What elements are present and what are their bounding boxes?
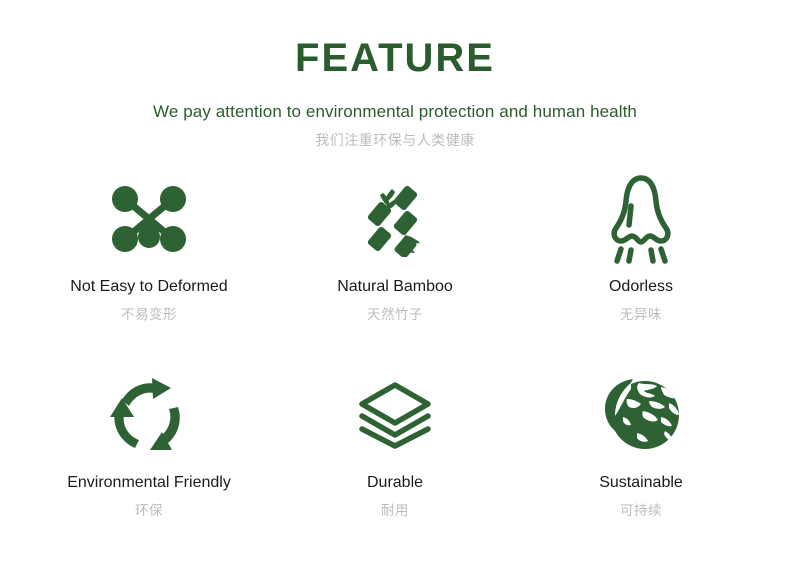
bamboo-icon: [358, 171, 432, 267]
feature-label-chinese: 可持续: [620, 503, 662, 519]
recycle-icon: [108, 367, 190, 463]
feature-label-chinese: 无异味: [620, 307, 662, 323]
subtitle-english: We pay attention to environmental protec…: [0, 102, 790, 122]
feature-item-odorless: Odorless 无异味: [518, 171, 764, 367]
feature-item-environmental-friendly: Environmental Friendly 环保: [26, 367, 272, 563]
feature-label-english: Sustainable: [599, 473, 683, 492]
globe-leaf-icon: [599, 367, 683, 463]
feature-label-chinese: 天然竹子: [367, 307, 423, 323]
feature-label-chinese: 不易变形: [121, 307, 177, 323]
feature-item-natural-bamboo: Natural Bamboo 天然竹子: [272, 171, 518, 367]
layers-icon: [356, 367, 434, 463]
feature-item-not-easy-to-deformed: Not Easy to Deformed 不易变形: [26, 171, 272, 367]
nose-icon: [605, 171, 677, 267]
feature-label-english: Not Easy to Deformed: [70, 277, 227, 296]
feature-label-english: Durable: [367, 473, 423, 492]
feature-label-english: Natural Bamboo: [337, 277, 453, 296]
molecule-structure-icon: [110, 171, 188, 267]
feature-section: FEATURE We pay attention to environmenta…: [0, 0, 790, 576]
feature-item-durable: Durable 耐用: [272, 367, 518, 563]
feature-label-chinese: 耐用: [381, 503, 409, 519]
feature-item-sustainable: Sustainable 可持续: [518, 367, 764, 563]
feature-grid: Not Easy to Deformed 不易变形: [0, 171, 790, 563]
feature-label-chinese: 环保: [135, 503, 163, 519]
feature-label-english: Environmental Friendly: [67, 473, 231, 492]
feature-label-english: Odorless: [609, 277, 673, 296]
subtitle-chinese: 我们注重环保与人类健康: [0, 132, 790, 149]
page-title: FEATURE: [0, 36, 790, 80]
section-header: FEATURE We pay attention to environmenta…: [0, 0, 790, 149]
